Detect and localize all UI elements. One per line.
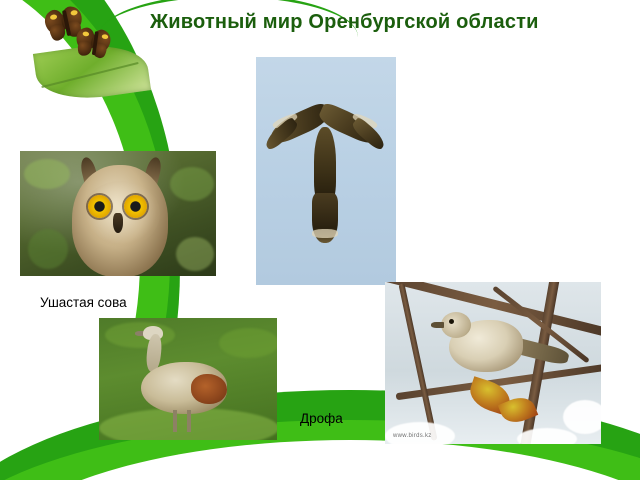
leaf-decoration <box>18 4 154 108</box>
slide-title: Животный мир Оренбургской области <box>150 10 640 34</box>
soaring-eagle-photo <box>256 57 396 285</box>
owl-caption: Ушастая сова <box>40 295 127 310</box>
bustard-leg <box>173 410 177 432</box>
bustard-wing-patch <box>191 374 227 404</box>
long-eared-owl-photo <box>20 151 216 276</box>
slide-canvas: Животный мир Оренбургской области Ушаста… <box>0 0 640 480</box>
owl-eye <box>124 195 147 218</box>
thrush-eye <box>449 319 454 324</box>
thrush-head <box>441 312 471 338</box>
thrush-beak <box>431 322 444 328</box>
photo-watermark: www.birds.kz <box>393 433 432 439</box>
butterfly-icon <box>73 25 116 65</box>
bustard-leg <box>187 410 191 432</box>
great-bustard-photo <box>99 318 277 440</box>
owl-eye <box>88 195 111 218</box>
owl-beak <box>113 213 123 233</box>
thrush-on-branch-photo: www.birds.kz <box>385 282 601 444</box>
bustard-caption: Дрофа <box>300 411 343 426</box>
